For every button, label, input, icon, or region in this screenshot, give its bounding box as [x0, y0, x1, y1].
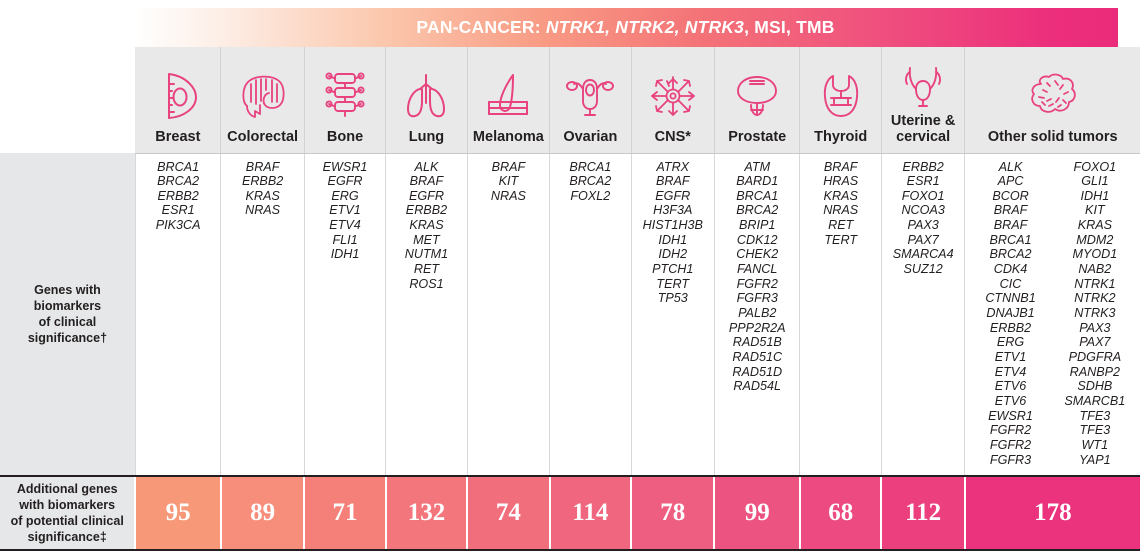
additional-count-colorectal: 89	[221, 476, 304, 550]
pan-cancer-banner-text: PAN-CANCER: NTRK1, NTRK2, NTRK3, MSI, TM…	[416, 17, 834, 38]
column-header-other-solid-tumors: Other solid tumors	[965, 47, 1140, 153]
spine-icon	[308, 65, 382, 127]
thyroid-icon	[803, 65, 877, 127]
pan-cancer-suffix: , MSI, TMB	[744, 17, 834, 37]
pan-cancer-genes: NTRK1, NTRK2, NTRK3	[546, 17, 744, 37]
gene-list-other-column-1: ALK APC BCOR BRAF BRAF BRCA1 BRCA2 CDK4 …	[968, 160, 1052, 468]
pan-cancer-biomarker-matrix: PAN-CANCER: NTRK1, NTRK2, NTRK3, MSI, TM…	[0, 0, 1140, 559]
row-label-additional-genes: Additional genes with biomarkers of pote…	[0, 476, 135, 550]
gene-list-bone: EWSR1 EGFR ERG ETV1 ETV4 FLI1 IDH1	[304, 153, 385, 476]
gene-list-prostate: ATM BARD1 BRCA1 BRCA2 BRIP1 CDK12 CHEK2 …	[714, 153, 800, 476]
additional-genes-row: Additional genes with biomarkers of pote…	[0, 476, 1140, 550]
gene-list-thyroid: BRAF HRAS KRAS NRAS RET TERT	[800, 153, 881, 476]
gene-list-colorectal: BRAF ERBB2 KRAS NRAS	[221, 153, 304, 476]
uterus-cervix-icon	[885, 61, 961, 111]
column-header-bone: Bone	[304, 47, 385, 153]
pan-cancer-prefix: PAN-CANCER:	[416, 17, 545, 37]
pan-cancer-banner: PAN-CANCER: NTRK1, NTRK2, NTRK3, MSI, TM…	[133, 8, 1118, 47]
column-header-uterine-cervical: Uterine & cervical	[881, 47, 964, 153]
gene-list-melanoma: BRAF KIT NRAS	[467, 153, 549, 476]
column-header-ovarian: Ovarian	[550, 47, 631, 153]
neuron-icon	[635, 65, 711, 127]
column-header-lung: Lung	[386, 47, 467, 153]
lungs-icon	[389, 65, 463, 127]
prostate-icon	[718, 65, 797, 127]
gene-list-ovarian: BRCA1 BRCA2 FOXL2	[550, 153, 631, 476]
column-header-uterine-cervical-label: Uterine & cervical	[885, 113, 961, 145]
uterus-ovaries-icon	[553, 65, 627, 127]
gene-list-cns: ATRX BRAF EGFR H3F3A HIST1H3B IDH1 IDH2 …	[631, 153, 714, 476]
column-header-ovarian-label: Ovarian	[553, 129, 627, 145]
biomarker-table: Breast Colorectal	[0, 47, 1140, 551]
additional-count-bone: 71	[304, 476, 385, 550]
gene-list-uterine-cervical: ERBB2 ESR1 FOXO1 NCOA3 PAX3 PAX7 SMARCA4…	[881, 153, 964, 476]
column-header-thyroid: Thyroid	[800, 47, 881, 153]
skin-hair-follicle-icon	[471, 65, 546, 127]
brain-icon	[968, 65, 1137, 127]
gene-list-other-split: ALK APC BCOR BRAF BRAF BRCA1 BRCA2 CDK4 …	[968, 160, 1137, 468]
gene-list-other-solid-tumors: ALK APC BCOR BRAF BRAF BRCA1 BRCA2 CDK4 …	[965, 153, 1140, 476]
column-header-other-solid-tumors-label: Other solid tumors	[968, 129, 1137, 145]
column-header-bone-label: Bone	[308, 129, 382, 145]
additional-count-melanoma: 74	[467, 476, 549, 550]
additional-count-ovarian: 114	[550, 476, 631, 550]
column-header-melanoma-label: Melanoma	[471, 129, 546, 145]
column-header-prostate-label: Prostate	[718, 129, 797, 145]
additional-count-cns: 78	[631, 476, 714, 550]
gene-list-lung: ALK BRAF EGFR ERBB2 KRAS MET NUTM1 RET R…	[386, 153, 467, 476]
column-header-breast-label: Breast	[138, 129, 217, 145]
additional-count-prostate: 99	[714, 476, 800, 550]
additional-count-thyroid: 68	[800, 476, 881, 550]
column-header-lung-label: Lung	[389, 129, 463, 145]
column-header-colorectal: Colorectal	[221, 47, 304, 153]
genes-clinical-row: Genes with biomarkers of clinical signif…	[0, 153, 1140, 476]
additional-count-other-solid-tumors: 178	[965, 476, 1140, 550]
column-header-breast: Breast	[135, 47, 221, 153]
gene-list-breast: BRCA1 BRCA2 ERBB2 ESR1 PIK3CA	[135, 153, 221, 476]
column-header-colorectal-label: Colorectal	[224, 129, 300, 145]
row-label-genes-clinical: Genes with biomarkers of clinical signif…	[0, 153, 135, 476]
column-header-melanoma: Melanoma	[467, 47, 549, 153]
colon-icon	[224, 65, 300, 127]
header-corner-spacer	[0, 47, 135, 153]
additional-count-lung: 132	[386, 476, 467, 550]
breast-icon	[138, 65, 217, 127]
table-header-row: Breast Colorectal	[0, 47, 1140, 153]
additional-count-uterine-cervical: 112	[881, 476, 964, 550]
column-header-cns: CNS*	[631, 47, 714, 153]
column-header-prostate: Prostate	[714, 47, 800, 153]
column-header-cns-label: CNS*	[635, 129, 711, 145]
additional-count-breast: 95	[135, 476, 221, 550]
column-header-thyroid-label: Thyroid	[803, 129, 877, 145]
gene-list-other-column-2: FOXO1 GLI1 IDH1 KIT KRAS MDM2 MYOD1 NAB2…	[1053, 160, 1137, 468]
